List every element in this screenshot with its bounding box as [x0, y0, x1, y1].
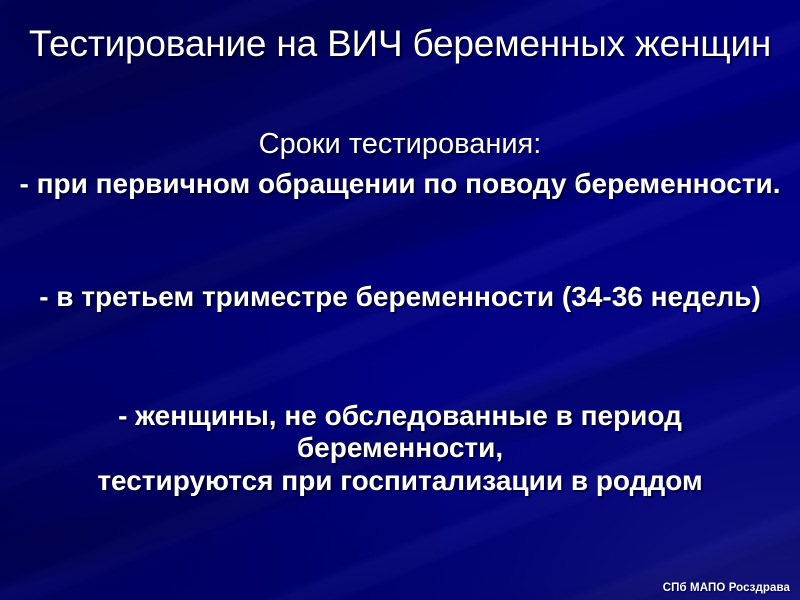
- bullet-item-unscreened-women: - женщины, не обследованные в период бер…: [0, 400, 800, 497]
- slide-footer-organization: СПб МАПО Росздрава: [663, 582, 790, 594]
- slide-subheading: Сроки тестирования:: [0, 130, 800, 160]
- slide-content: Тестирование на ВИЧ беременных женщин Ср…: [0, 0, 800, 600]
- slide-title: Тестирование на ВИЧ беременных женщин: [0, 22, 800, 66]
- bullet-item-primary-visit: - при первичном обращении по поводу бере…: [0, 168, 800, 200]
- presentation-slide: Тестирование на ВИЧ беременных женщин Ср…: [0, 0, 800, 600]
- bullet-item-third-trimester: - в третьем триместре беременности (34-3…: [0, 281, 800, 313]
